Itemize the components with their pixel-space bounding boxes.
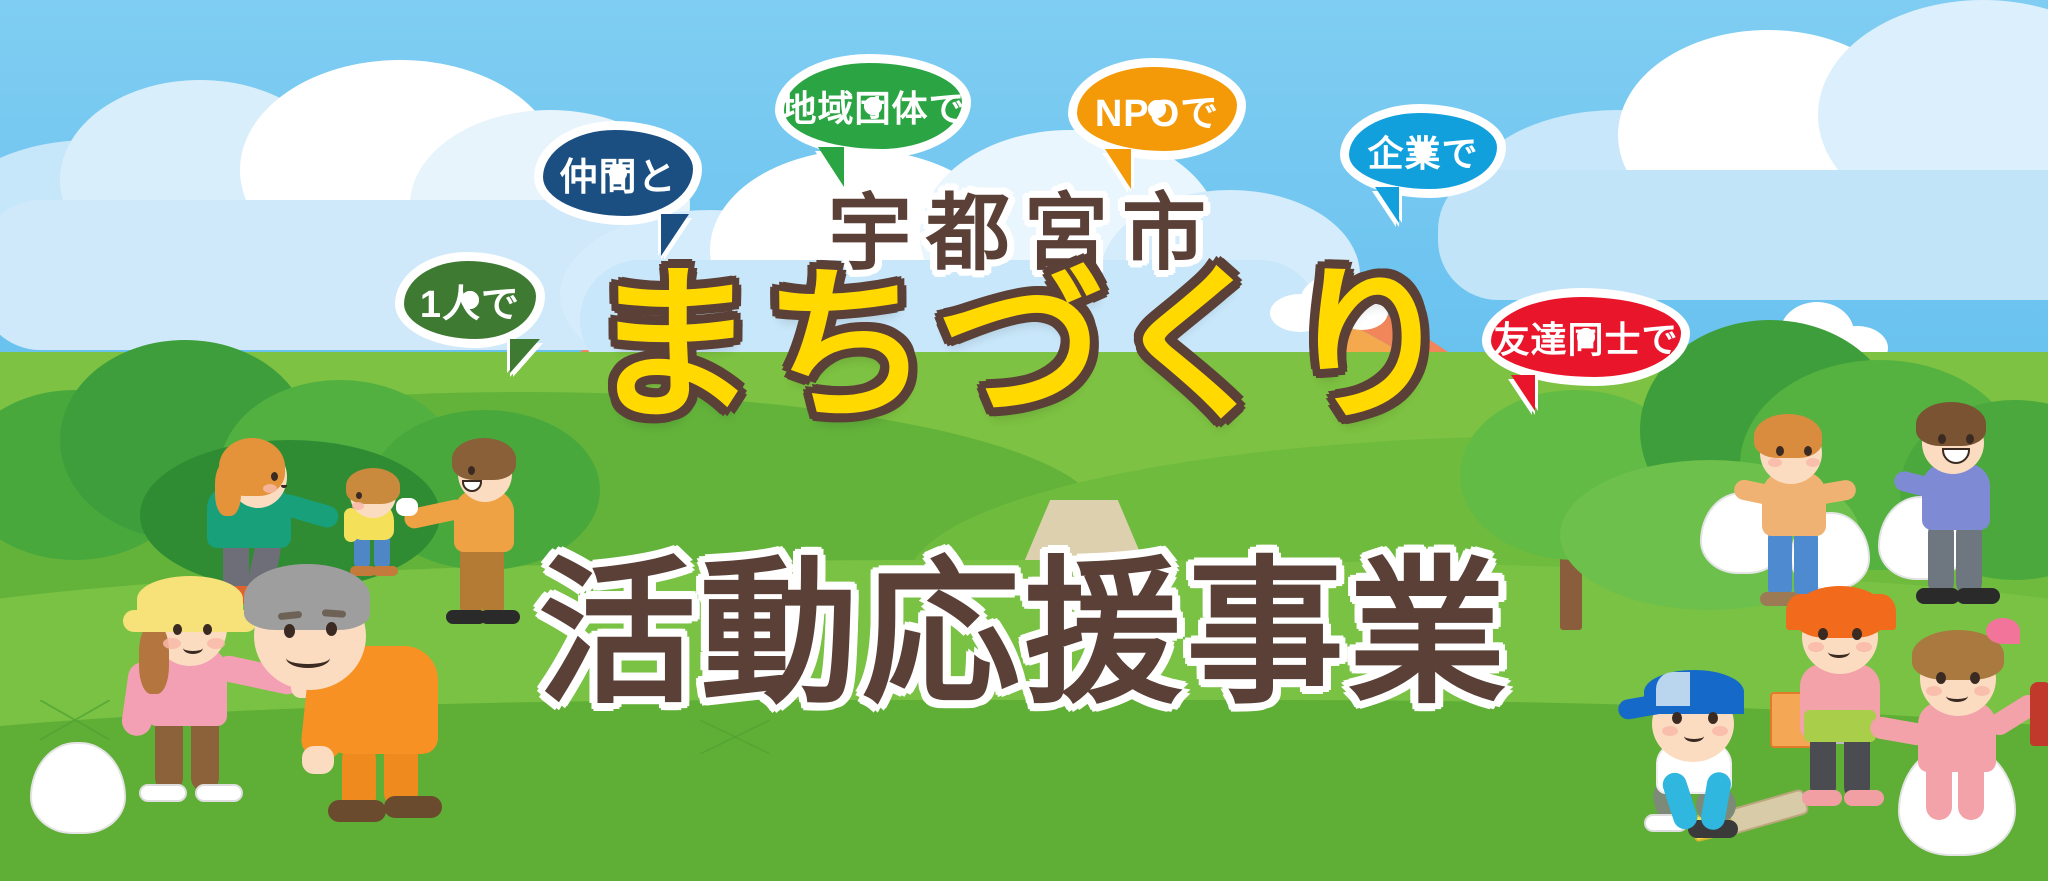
speech-bubble-npo-label: NPOで xyxy=(1095,82,1219,137)
page-title-main: まちづくり xyxy=(0,262,2048,430)
campaign-banner: 宇都宮市 まちづくり 活動応援事業 1人で 仲間と 地域団体で NPOで 企業で… xyxy=(0,0,2048,881)
page-title-sub: 活動応援事業 xyxy=(0,555,2048,713)
speech-bubble-npo[interactable]: NPOで xyxy=(1068,58,1246,160)
speech-bubble-community-label: 地域団体で xyxy=(781,80,966,132)
grass-tuft xyxy=(700,720,770,754)
speech-bubble-community[interactable]: 地域団体で xyxy=(775,54,971,158)
